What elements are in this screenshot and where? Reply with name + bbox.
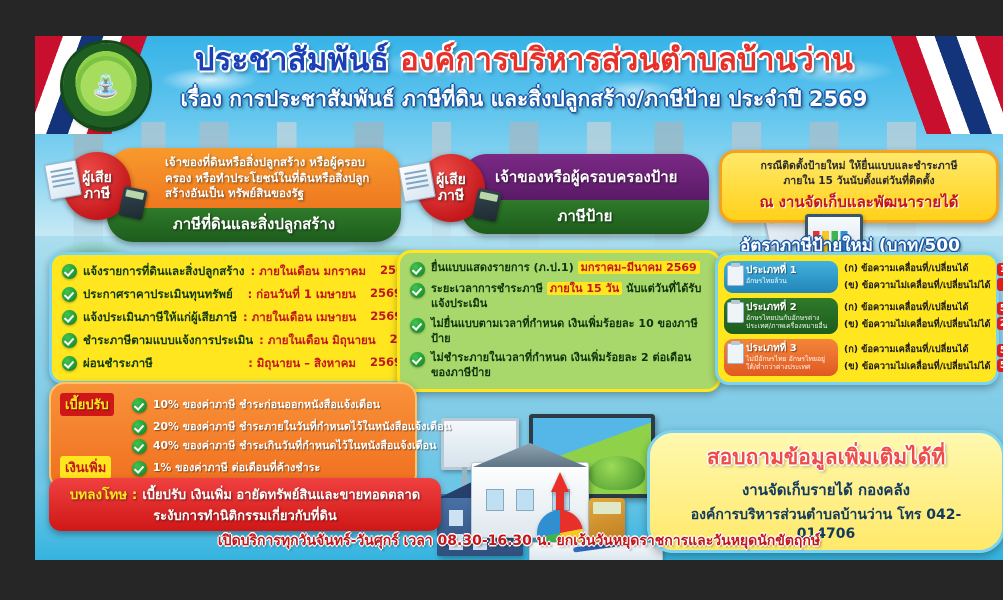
signboard-item-row: ไม่ชำระภายในเวลาที่กำหนด เงินเพิ่มร้อยละ… [410, 351, 708, 381]
punishment-first-line: บทลงโทษ : เบี้ยปรับ เงินเพิ่ม อายัดทรัพย… [59, 483, 431, 505]
banner-land-tax: เจ้าของที่ดินหรือสิ่งปลูกสร้าง หรือผู้คร… [107, 148, 401, 242]
rate-type-tag: ประเภทที่ 1 อักษรไทยล้วน [724, 261, 838, 293]
rate-row: ประเภทที่ 2 อักษรไทยปนกับอักษรต่างประเทศ… [724, 298, 990, 334]
signboard-item-text: ยื่นแบบแสดงรายการ (ภ.ป.1) มกราคม–มีนาคม … [431, 261, 700, 276]
badge-line-2: ภาษี [84, 186, 110, 202]
penalty-row: 20% ของค่าภาษี ชำระภายในวันที่กำหนดไว้ใน… [60, 418, 406, 435]
rate-type-title: ประเภทที่ 2 [746, 302, 834, 314]
penalty-item-text: 1% ของค่าภาษี ต่อเดือนที่ค้างชำระ [153, 459, 320, 476]
punishment-card: บทลงโทษ : เบี้ยปรับ เงินเพิ่ม อายัดทรัพย… [49, 478, 441, 531]
page-subtitle: เรื่อง การประชาสัมพันธ์ ภาษีที่ดิน และสิ… [165, 83, 883, 116]
rate-value: 52 [997, 302, 1003, 315]
clipboard-icon [727, 302, 744, 323]
banner-signboard-footer: ภาษีป้าย [471, 204, 699, 228]
rate-items: (ก) ข้อความเคลื่อนที่/เปลี่ยนได้ (ข) ข้อ… [844, 339, 991, 375]
schedule-label: ประกาศราคาประเมินทุนทรัพย์ [83, 286, 233, 304]
check-icon [410, 262, 425, 277]
banner-land-footer-wrap: ภาษีที่ดินและสิ่งปลูกสร้าง [107, 208, 401, 242]
check-icon [410, 318, 425, 333]
penalty-row: 40% ของค่าภาษี ชำระเกินวันที่กำหนดไว้ในห… [60, 437, 406, 454]
rate-type-tag: ประเภทที่ 3 ไม่มีอักษรไทย อักษรไทยอยู่ใต… [724, 339, 838, 375]
poster-canvas: ⛲ ประชาสัมพันธ์ องค์การบริหารส่วนตำบลบ้า… [35, 36, 1003, 560]
penalty-item-text: 40% ของค่าภาษี ชำระเกินวันที่กำหนดไว้ในห… [153, 437, 436, 454]
page-title: ประชาสัมพันธ์ องค์การบริหารส่วนตำบลบ้านว… [165, 44, 883, 77]
contact-office: งานจัดเก็บรายได้ กองคลัง [662, 478, 990, 502]
penalty-row: เบี้ยปรับ 10% ของค่าภาษี ชำระก่อนออกหนัง… [60, 393, 406, 416]
penalty-row: เงินเพิ่ม 1% ของค่าภาษี ต่อเดือนที่ค้างช… [60, 456, 406, 479]
signboard-item-text: ไม่ชำระภายในเวลาที่กำหนด เงินเพิ่มร้อยละ… [431, 351, 708, 381]
rate-value: 50 [997, 359, 1003, 372]
rate-item-text: (ข) ข้อความไม่เคลื่อนที่/เปลี่ยนไม่ได้ [844, 317, 991, 332]
rate-type-title: ประเภทที่ 1 [746, 265, 834, 277]
check-icon [62, 333, 77, 348]
schedule-value: : ก่อนวันที่ 1 เมษายน [248, 286, 356, 304]
rate-values: 52 26 [997, 298, 1003, 334]
signboard-item-pre: ยื่นแบบแสดงรายการ (ภ.ป.1) [431, 261, 574, 274]
signboard-notice-card: กรณีติดตั้งป้ายใหม่ ให้ยื่นแบบและชำระภาษ… [719, 150, 999, 223]
rate-row: ประเภทที่ 1 อักษรไทยล้วน (ก) ข้อความเคลื… [724, 261, 990, 293]
notice-line-3: ณ งานจัดเก็บและพัฒนารายได้ [730, 190, 988, 214]
schedule-label: แจ้งประเมินภาษีให้แก่ผู้เสียภาษี [83, 309, 237, 327]
poster-header: ⛲ ประชาสัมพันธ์ องค์การบริหารส่วนตำบลบ้า… [35, 36, 1003, 134]
signboard-item-row: ระยะเวลาการชำระภาษี ภายใน 15 วัน นับแต่ว… [410, 282, 708, 312]
rate-type-sub: อักษรไทยปนกับอักษรต่างประเทศ/ภาพเครื่องห… [746, 314, 834, 331]
thai-flag-ribbon-right-icon [883, 36, 1003, 134]
check-icon [132, 420, 147, 435]
service-hours: เปิดบริการทุกวันจันทร์-วันศุกร์ เวลา 08.… [35, 530, 1003, 552]
punishment-line-1: เบี้ยปรับ เงินเพิ่ม อายัดทรัพย์สินและขาย… [142, 488, 420, 503]
schedule-row: ผ่อนชำระภาษี : มิถุนายน – สิงหาคม 2569 [62, 355, 402, 373]
signboard-item-pre: ระยะเวลาการชำระภาษี [431, 282, 543, 295]
penalty-item-text: 10% ของค่าภาษี ชำระก่อนออกหนังสือแจ้งเตื… [153, 396, 380, 413]
rate-value: 5 [997, 278, 1003, 291]
badge-line-2: ภาษี [438, 188, 464, 204]
banner-land-footer: ภาษีที่ดินและสิ่งปลูกสร้าง [117, 212, 391, 236]
penalty-tag-cell: เงินเพิ่ม [60, 456, 126, 479]
rate-value: 52 [997, 344, 1003, 357]
penalty-fine-label: เบี้ยปรับ [60, 393, 114, 416]
check-icon [132, 461, 147, 476]
schedule-value: : ภายในเดือน มิถุนายน [259, 332, 376, 350]
schedule-label: ชำระภาษีตามแบบแจ้งการประเมิน [83, 332, 253, 350]
rate-items: (ก) ข้อความเคลื่อนที่/เปลี่ยนได้ (ข) ข้อ… [844, 261, 991, 293]
organization-logo: ⛲ [63, 43, 149, 129]
rate-values: 52 50 [997, 339, 1003, 375]
check-icon [62, 287, 77, 302]
rate-items: (ก) ข้อความเคลื่อนที่/เปลี่ยนได้ (ข) ข้อ… [844, 298, 991, 334]
check-icon [62, 356, 77, 371]
banner-signboard-description: เจ้าของหรือผู้ครอบครองป้าย [495, 167, 697, 187]
clipboard-icon [727, 265, 744, 286]
banner-land-description-wrap: เจ้าของที่ดินหรือสิ่งปลูกสร้าง หรือผู้คร… [107, 148, 401, 208]
notice-line-1: กรณีติดตั้งป้ายใหม่ ให้ยื่นแบบและชำระภาษ… [730, 159, 988, 174]
schedule-label: แจ้งรายการที่ดินและสิ่งปลูกสร้าง [83, 263, 245, 281]
check-icon [410, 283, 425, 298]
taxpayer-badge-signboard: ผู้เสีย ภาษี [417, 154, 485, 222]
penalty-tag-cell: เบี้ยปรับ [60, 393, 126, 416]
schedule-row: แจ้งประเมินภาษีให้แก่ผู้เสียภาษี : ภายใน… [62, 309, 402, 327]
title-part-1: ประชาสัมพันธ์ [195, 42, 389, 78]
rate-item-text: (ข) ข้อความไม่เคลื่อนที่/เปลี่ยนไม่ได้ [844, 359, 991, 374]
signboard-item-highlight: มกราคม–มีนาคม 2569 [578, 261, 700, 274]
rate-type-title: ประเภทที่ 3 [746, 343, 834, 355]
rate-value: 10 [997, 263, 1003, 276]
signboard-item-text: ไม่ยื่นแบบตามเวลาที่กำหนด เงินเพิ่มร้อยล… [431, 317, 708, 347]
badge-line-1: ผู้เสีย [436, 172, 466, 188]
schedule-value: : ภายในเดือน เมษายน [243, 309, 356, 327]
notice-line-2: ภายใน 15 วันนับตั้งแต่วันที่ติดตั้ง [730, 174, 988, 189]
logo-inner-seal: ⛲ [76, 56, 136, 116]
rate-item-text: (ก) ข้อความเคลื่อนที่/เปลี่ยนได้ [844, 300, 991, 315]
logo-temple-glyph: ⛲ [92, 74, 119, 99]
schedule-row: ชำระภาษีตามแบบแจ้งการประเมิน : ภายในเดือ… [62, 332, 402, 350]
document-icon [44, 159, 82, 200]
banner-land-description: เจ้าของที่ดินหรือสิ่งปลูกสร้าง หรือผู้คร… [165, 155, 389, 202]
growth-arrow-icon [551, 472, 569, 492]
schedule-value: : ภายในเดือน มกราคม [251, 263, 366, 281]
taxpayer-badge-land: ผู้เสีย ภาษี [63, 152, 131, 220]
rate-item-text: (ก) ข้อความเคลื่อนที่/เปลี่ยนได้ [844, 261, 991, 276]
clipboard-icon [727, 343, 744, 364]
check-icon [132, 439, 147, 454]
title-block: ประชาสัมพันธ์ องค์การบริหารส่วนตำบลบ้านว… [165, 44, 883, 116]
signboard-item-row: ยื่นแบบแสดงรายการ (ภ.ป.1) มกราคม–มีนาคม … [410, 261, 708, 277]
billboard-landscape [589, 456, 645, 490]
rate-values: 10 5 [997, 261, 1003, 293]
document-icon [398, 161, 436, 202]
rate-type-tag: ประเภทที่ 2 อักษรไทยปนกับอักษรต่างประเทศ… [724, 298, 838, 334]
penalty-item-text: 20% ของค่าภาษี ชำระภายในวันที่กำหนดไว้ใน… [153, 418, 451, 435]
badge-line-1: ผู้เสีย [82, 170, 112, 186]
penalty-surcharge-label: เงินเพิ่ม [60, 456, 111, 479]
signboard-item-highlight: ภายใน 15 วัน [547, 282, 622, 295]
check-icon [62, 310, 77, 325]
punishment-heading: บทลงโทษ : [70, 487, 137, 503]
signboard-rate-table: ประเภทที่ 1 อักษรไทยล้วน (ก) ข้อความเคลื… [715, 252, 999, 385]
signboard-item-text: ระยะเวลาการชำระภาษี ภายใน 15 วัน นับแต่ว… [431, 282, 708, 312]
schedule-label: ผ่อนชำระภาษี [83, 355, 153, 373]
schedule-value: : มิถุนายน – สิงหาคม [248, 355, 356, 373]
schedule-row: ประกาศราคาประเมินทุนทรัพย์ : ก่อนวันที่ … [62, 286, 402, 304]
check-icon [132, 398, 147, 413]
rate-item-text: (ข) ข้อความไม่เคลื่อนที่/เปลี่ยนไม่ได้ [844, 278, 991, 293]
rate-item-text: (ก) ข้อความเคลื่อนที่/เปลี่ยนได้ [844, 342, 991, 357]
land-tax-schedule-card: แจ้งรายการที่ดินและสิ่งปลูกสร้าง : ภายใน… [49, 252, 415, 384]
rate-type-sub: อักษรไทยล้วน [746, 277, 834, 285]
rate-row: ประเภทที่ 3 ไม่มีอักษรไทย อักษรไทยอยู่ใต… [724, 339, 990, 375]
rate-value: 26 [997, 317, 1003, 330]
check-icon [62, 264, 77, 279]
check-icon [410, 352, 425, 367]
schedule-row: แจ้งรายการที่ดินและสิ่งปลูกสร้าง : ภายใน… [62, 263, 402, 281]
penalty-card: เบี้ยปรับ 10% ของค่าภาษี ชำระก่อนออกหนัง… [49, 382, 417, 490]
title-part-2: องค์การบริหารส่วนตำบลบ้านว่าน [400, 42, 853, 78]
signboard-tax-card: ยื่นแบบแสดงรายการ (ภ.ป.1) มกราคม–มีนาคม … [397, 250, 721, 392]
contact-heading: สอบถามข้อมูลเพิ่มเติมได้ที่ [662, 441, 990, 474]
punishment-line-2: ระงับการทำนิติกรรมเกี่ยวกับที่ดิน [59, 505, 431, 526]
rate-type-sub: ไม่มีอักษรไทย อักษรไทยอยู่ใต้/ต่ำกว่าต่า… [746, 355, 834, 372]
signboard-item-row: ไม่ยื่นแบบตามเวลาที่กำหนด เงินเพิ่มร้อยล… [410, 317, 708, 347]
